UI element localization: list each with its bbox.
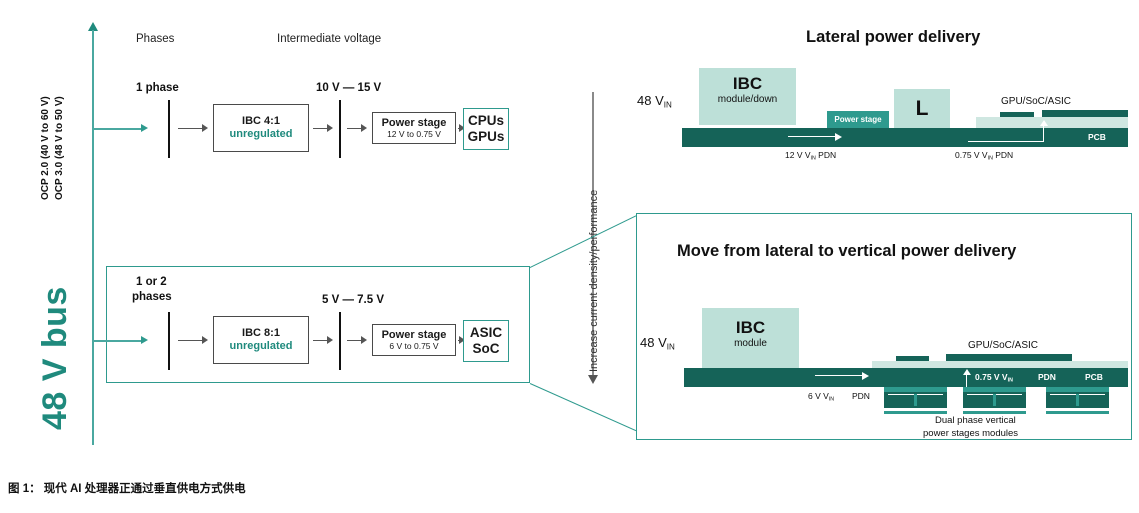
vertical-module-1-slot xyxy=(914,394,917,406)
top-ibc-in-arrow xyxy=(202,124,208,132)
vertical-module-3 xyxy=(1046,387,1109,414)
figure-canvas: OCP 2.0 (40 V to 60 V) OCP 3.0 (48 V to … xyxy=(0,0,1139,460)
bottom-ps-in-arrow xyxy=(361,336,367,344)
vertical-pdn-label-on-pcb: PDN xyxy=(1038,372,1056,382)
vertical-vin-label: 48 VIN xyxy=(640,335,675,351)
bus-label: 48 V bus xyxy=(36,430,180,469)
lateral-pdn-right-arrow-line xyxy=(968,141,1044,142)
top-ps-in-wire xyxy=(347,128,361,129)
vertical-module-2-foot xyxy=(963,411,1026,414)
top-load-line1: CPUs xyxy=(468,113,504,129)
ocp-label-30: OCP 3.0 (48 V to 50 V) xyxy=(54,200,158,211)
vertical-vin-subscript: IN xyxy=(667,342,675,351)
top-load-line2: GPUs xyxy=(468,129,505,145)
vertical-pdn-left-subscript: IN xyxy=(829,396,834,402)
top-ibc-block: IBC 4:1 unregulated xyxy=(213,104,309,152)
lateral-vin-value: 48 V xyxy=(637,93,664,108)
lateral-panel-title: Lateral power delivery xyxy=(806,28,980,47)
vertical-modules-caption-line2: power stages modules xyxy=(923,428,1018,439)
top-load-block: CPUs GPUs xyxy=(463,108,509,150)
lateral-pdn-left-tail: PDN xyxy=(816,150,836,160)
top-phase-bar xyxy=(168,100,170,158)
bus-label-text: 48 V bus xyxy=(36,286,75,430)
lateral-die-small xyxy=(1000,112,1034,117)
bottom-ibc-out-wire xyxy=(313,340,327,341)
header-phases: Phases xyxy=(136,33,174,45)
top-ibc-sub: unregulated xyxy=(230,128,293,141)
bottom-bus-feed-wire xyxy=(93,340,141,342)
vertical-ibc-title: IBC xyxy=(702,318,799,338)
bottom-phase-bar xyxy=(168,312,170,370)
vertical-pdn-right-label: 0.75 V VIN xyxy=(975,372,1013,383)
bottom-phase-label-line1: 1 or 2 xyxy=(136,276,167,288)
lateral-inductor: L xyxy=(894,89,950,128)
lateral-load-label: GPU/SoC/ASIC xyxy=(1001,96,1071,107)
bottom-ibc-in-arrow xyxy=(202,336,208,344)
vertical-load-label: GPU/SoC/ASIC xyxy=(968,340,1038,351)
vertical-vin-value: 48 V xyxy=(640,335,667,350)
bottom-power-stage-title: Power stage xyxy=(382,329,447,342)
lateral-pdn-left-arrow-line xyxy=(788,136,836,137)
lateral-load-substrate xyxy=(976,117,1128,128)
lateral-power-stage: Power stage xyxy=(827,111,889,128)
lateral-pdn-right-tail: PDN xyxy=(993,150,1013,160)
bottom-load-block: ASIC SoC xyxy=(463,320,509,362)
lateral-pcb-label: PCB xyxy=(1088,132,1106,142)
vertical-module-3-slot xyxy=(1076,394,1079,406)
lateral-pdn-left-value: 12 V V xyxy=(785,150,811,160)
lateral-vin-subscript: IN xyxy=(664,100,672,109)
lateral-pdn-right-value: 0.75 V V xyxy=(955,150,988,160)
vertical-pdn-left-arrow-head xyxy=(862,372,869,380)
vertical-modules-caption-line1: Dual phase vertical xyxy=(935,415,1016,426)
lateral-pdn-right-arrow-stem xyxy=(1043,124,1044,142)
top-ibc-title: IBC 4:1 xyxy=(242,115,280,128)
top-intermediate-voltage-label: 10 V — 15 V xyxy=(316,82,381,94)
vertical-ibc-sub: module xyxy=(702,338,799,349)
vertical-ibc-module: IBC module xyxy=(702,308,799,368)
vertical-pdn-left-value: 6 V V xyxy=(808,391,829,401)
top-power-stage-sub: 12 V to 0.75 V xyxy=(387,129,441,139)
vertical-pdn-right-subscript: IN xyxy=(1008,377,1013,383)
bottom-ibc-block: IBC 8:1 unregulated xyxy=(213,316,309,364)
top-ps-in-arrow xyxy=(361,124,367,132)
lateral-ibc-module: IBC module/down xyxy=(699,68,796,125)
vertical-pdn-left-label: 6 V VIN xyxy=(808,391,834,402)
bottom-ibc-sub: unregulated xyxy=(230,340,293,353)
bottom-ibc-out-arrow xyxy=(327,336,333,344)
lateral-ibc-sub: module/down xyxy=(699,94,796,105)
lateral-ibc-title: IBC xyxy=(699,74,796,94)
bottom-ibc-in-wire xyxy=(178,340,202,341)
top-power-stage-block: Power stage 12 V to 0.75 V xyxy=(372,112,456,144)
lateral-vin-label: 48 VIN xyxy=(637,93,672,109)
bus-axis-line xyxy=(92,30,94,445)
vertical-module-1 xyxy=(884,387,947,414)
vertical-pdn-left-word: PDN xyxy=(852,391,870,401)
ocp-30-text: OCP 3.0 (48 V to 50 V) xyxy=(54,96,65,200)
bottom-phase-label-line2: phases xyxy=(132,291,172,303)
top-bus-feed-arrow xyxy=(141,124,148,132)
header-intermediate-voltage: Intermediate voltage xyxy=(277,33,381,45)
bottom-power-stage-block: Power stage 6 V to 0.75 V xyxy=(372,324,456,356)
center-arrow-label-text: Increase current density/performance xyxy=(588,190,600,372)
vertical-panel-title: Move from lateral to vertical power deli… xyxy=(677,242,1016,261)
top-phase-label: 1 phase xyxy=(136,82,179,94)
top-mid-bar xyxy=(339,100,341,158)
top-power-stage-title: Power stage xyxy=(382,117,447,130)
top-ibc-out-wire xyxy=(313,128,327,129)
bottom-power-stage-sub: 6 V to 0.75 V xyxy=(389,341,438,351)
vertical-pdn-left-arrow-line xyxy=(815,375,863,376)
bottom-ps-in-wire xyxy=(347,340,361,341)
top-bus-feed-wire xyxy=(93,128,141,130)
vertical-module-2-slot xyxy=(993,394,996,406)
figure-caption: 图 1： 现代 AI 处理器正通过垂直供电方式供电 xyxy=(8,480,246,496)
lateral-pdn-right-arrow-head xyxy=(1040,120,1048,126)
vertical-die-small xyxy=(896,356,929,361)
lateral-pdn-left-arrow-head xyxy=(835,133,842,141)
vertical-die-large xyxy=(946,354,1072,361)
lateral-pdn-left-label: 12 V VIN PDN xyxy=(785,150,836,161)
vertical-module-2 xyxy=(963,387,1026,414)
lateral-pdn-right-label: 0.75 V VIN PDN xyxy=(955,150,1013,161)
lateral-die-large xyxy=(1042,110,1128,117)
top-ibc-out-arrow xyxy=(327,124,333,132)
callout-diagonal-top xyxy=(530,215,637,268)
vertical-module-1-foot xyxy=(884,411,947,414)
bottom-load-line2: SoC xyxy=(473,341,500,357)
vertical-pcb xyxy=(684,368,1128,387)
callout-diagonal-bottom xyxy=(530,383,649,437)
lateral-power-stage-label: Power stage xyxy=(827,111,889,128)
ocp-20-text: OCP 2.0 (40 V to 60 V) xyxy=(40,96,51,200)
lateral-pcb xyxy=(682,128,1128,147)
vertical-pdn-right-arrow-head xyxy=(963,369,971,375)
vertical-pdn-right-arrow-stem xyxy=(966,374,967,388)
vertical-pcb-label: PCB xyxy=(1085,372,1103,382)
bottom-mid-bar xyxy=(339,312,341,370)
vertical-module-3-foot xyxy=(1046,411,1109,414)
vertical-pdn-right-value: 0.75 V V xyxy=(975,372,1008,382)
top-ibc-in-wire xyxy=(178,128,202,129)
lateral-inductor-label: L xyxy=(894,89,950,128)
bottom-intermediate-voltage-label: 5 V — 7.5 V xyxy=(322,294,384,306)
bottom-load-line1: ASIC xyxy=(470,325,502,341)
bottom-bus-feed-arrow xyxy=(141,336,148,344)
bottom-ibc-title: IBC 8:1 xyxy=(242,327,280,340)
